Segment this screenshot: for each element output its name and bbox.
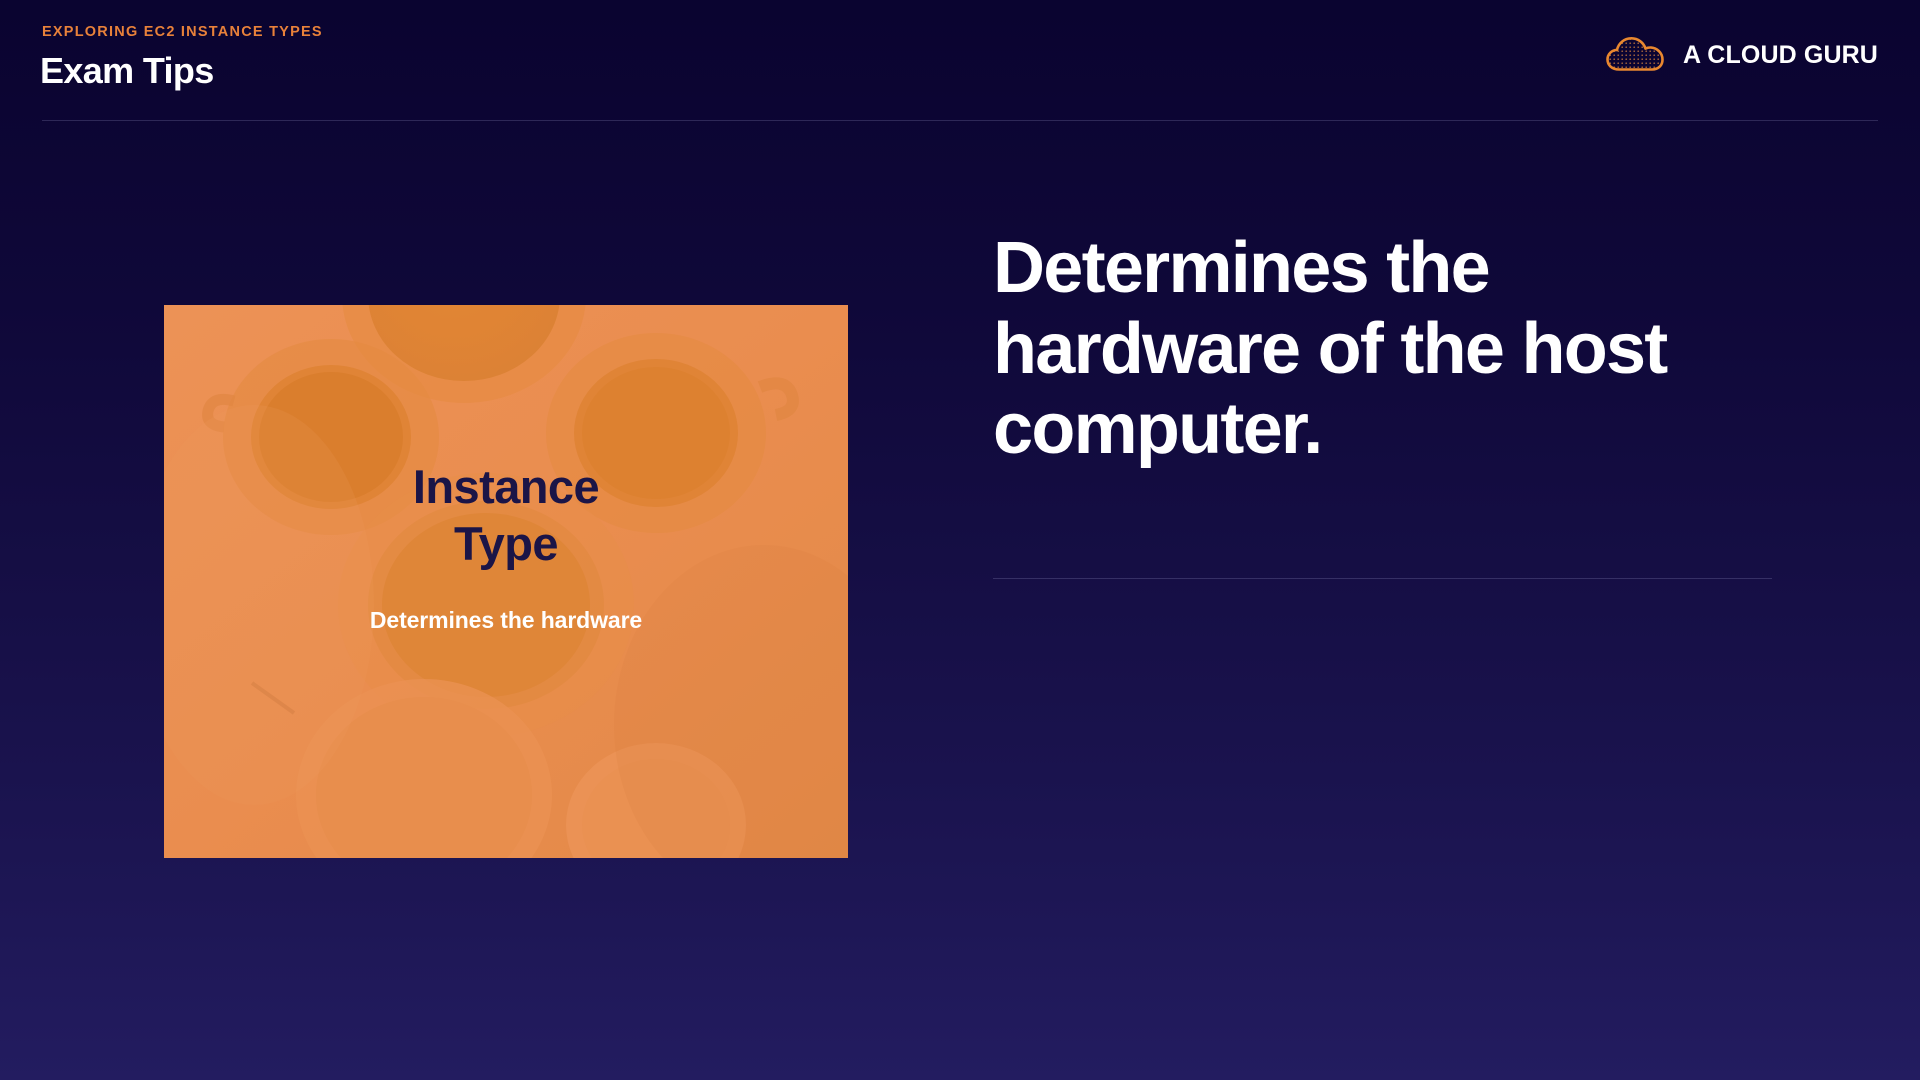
header-divider bbox=[42, 120, 1878, 121]
slide-header: EXPLORING EC2 INSTANCE TYPES Exam Tips A… bbox=[0, 0, 1920, 122]
main-headline: Determines the hardware of the host comp… bbox=[993, 228, 1783, 470]
card-title: Instance Type bbox=[356, 458, 656, 573]
main-content: Determines the hardware of the host comp… bbox=[993, 228, 1783, 470]
brand-logo: A CLOUD GURU bbox=[1605, 34, 1878, 76]
instance-type-card: Instance Type Determines the hardware bbox=[164, 305, 848, 858]
card-text-block: Instance Type Determines the hardware bbox=[164, 305, 848, 858]
eyebrow-label: EXPLORING EC2 INSTANCE TYPES bbox=[42, 24, 323, 40]
card-subtitle: Determines the hardware bbox=[370, 607, 642, 634]
content-divider bbox=[993, 578, 1772, 579]
brand-name: A CLOUD GURU bbox=[1683, 41, 1878, 70]
page-title: Exam Tips bbox=[40, 50, 214, 92]
cloud-outline-icon bbox=[1605, 34, 1667, 76]
